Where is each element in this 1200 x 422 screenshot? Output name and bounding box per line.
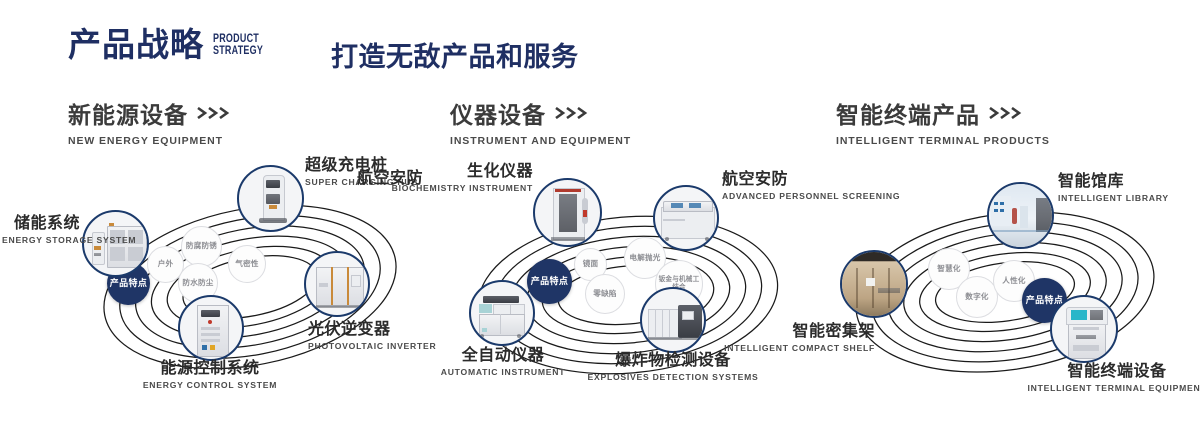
product-node-compact-shelf[interactable] <box>840 250 908 318</box>
feature-bubble: 防腐防锈 <box>181 226 222 267</box>
chevron-right-icon <box>555 107 589 119</box>
product-label-energy-control: 能源控制系统 ENERGY CONTROL SYSTEM <box>105 360 315 391</box>
product-node-screening[interactable] <box>653 185 719 251</box>
infographic-canvas: 产品战略 PRODUCT STRATEGY 打造无敌产品和服务 新能源设备 NE… <box>0 0 1200 422</box>
control-cabinet-icon <box>180 297 242 359</box>
chevron-right-icon <box>197 107 231 119</box>
product-node-biochemistry[interactable] <box>533 178 602 247</box>
section-title-en: INTELLIGENT TERMINAL PRODUCTS <box>836 135 1050 147</box>
section-title-cn: 仪器设备 <box>450 96 546 130</box>
automatic-analyzer-icon <box>471 282 533 344</box>
product-label-automatic-instrument: 全自动仪器 AUTOMATIC INSTRUMENT <box>413 347 593 378</box>
product-node-pv-inverter[interactable] <box>304 251 370 317</box>
pv-inverter-cabinet-icon <box>306 253 368 315</box>
feature-bubble: 数字化 <box>956 276 998 318</box>
page-subtitle: 打造无敌产品和服务 <box>331 35 579 74</box>
self-service-kiosk-icon <box>1052 297 1116 361</box>
page-title-en: PRODUCT STRATEGY <box>213 32 263 57</box>
product-node-automatic-instrument[interactable] <box>469 280 535 346</box>
product-node-intelligent-library[interactable] <box>987 182 1054 249</box>
ev-charging-pile-icon <box>239 167 302 230</box>
page-title-cn: 产品战略 <box>68 28 204 61</box>
chevron-right-icon <box>989 107 1023 119</box>
product-label-intelligent-library: 智能馆库 INTELLIGENT LIBRARY <box>1058 173 1200 204</box>
section-heading-new-energy: 新能源设备 NEW ENERGY EQUIPMENT <box>68 96 231 147</box>
section-title-cn: 智能终端产品 <box>836 96 980 130</box>
product-label-compact-shelf: 智能密集架 INTELLIGENT COMPACT SHELF <box>715 323 875 354</box>
section-title-cn: 新能源设备 <box>68 96 188 130</box>
explosives-detector-icon <box>642 289 704 351</box>
smart-library-room-icon <box>989 184 1052 247</box>
feature-bubble: 气密性 <box>228 245 266 283</box>
product-label-aviation-security: 航空安防 <box>303 170 423 188</box>
section-heading-intelligent-terminal: 智能终端产品 INTELLIGENT TERMINAL PRODUCTS <box>836 96 1050 147</box>
security-scanner-gate-icon <box>535 180 600 245</box>
section-title-en: NEW ENERGY EQUIPMENT <box>68 135 231 147</box>
product-node-charging-hub[interactable] <box>237 165 304 232</box>
product-label-explosives-detection: 爆炸物检测设备 EXPLOSIVES DETECTION SYSTEMS <box>573 352 773 383</box>
cluster-intelligent-terminal: 智慧化 数字化 人性化 产品特点 <box>800 155 1200 415</box>
screening-machine-icon <box>655 187 717 249</box>
section-heading-instrument: 仪器设备 INSTRUMENT AND EQUIPMENT <box>450 96 631 147</box>
compact-shelving-icon <box>842 252 906 316</box>
product-features-badge: 产品特点 <box>527 259 572 304</box>
page-title-en-line2: STRATEGY <box>213 46 263 58</box>
product-node-explosives-detection[interactable] <box>640 287 706 353</box>
product-node-energy-control[interactable] <box>178 295 244 361</box>
feature-bubble: 零缺陷 <box>585 274 625 314</box>
product-node-terminal-equipment[interactable] <box>1050 295 1118 363</box>
product-label-energy-storage: 储能系统 ENERGY STORAGE SYSTEM <box>2 215 80 246</box>
page-title-en-line1: PRODUCT <box>213 34 263 46</box>
cluster-new-energy: 防腐防锈 户外 气密性 防水防尘 产品特点 <box>50 155 450 415</box>
cluster-instrument: 镜面 电解抛光 零缺陷 钣金与机械工结合 产品特点 生化仪器 <box>428 155 828 415</box>
page-title: 产品战略 PRODUCT STRATEGY <box>68 28 277 61</box>
section-title-en: INSTRUMENT AND EQUIPMENT <box>450 135 631 147</box>
product-label-terminal-equipment: 智能终端设备 INTELLIGENT TERMINAL EQUIPMENT <box>1022 363 1200 394</box>
